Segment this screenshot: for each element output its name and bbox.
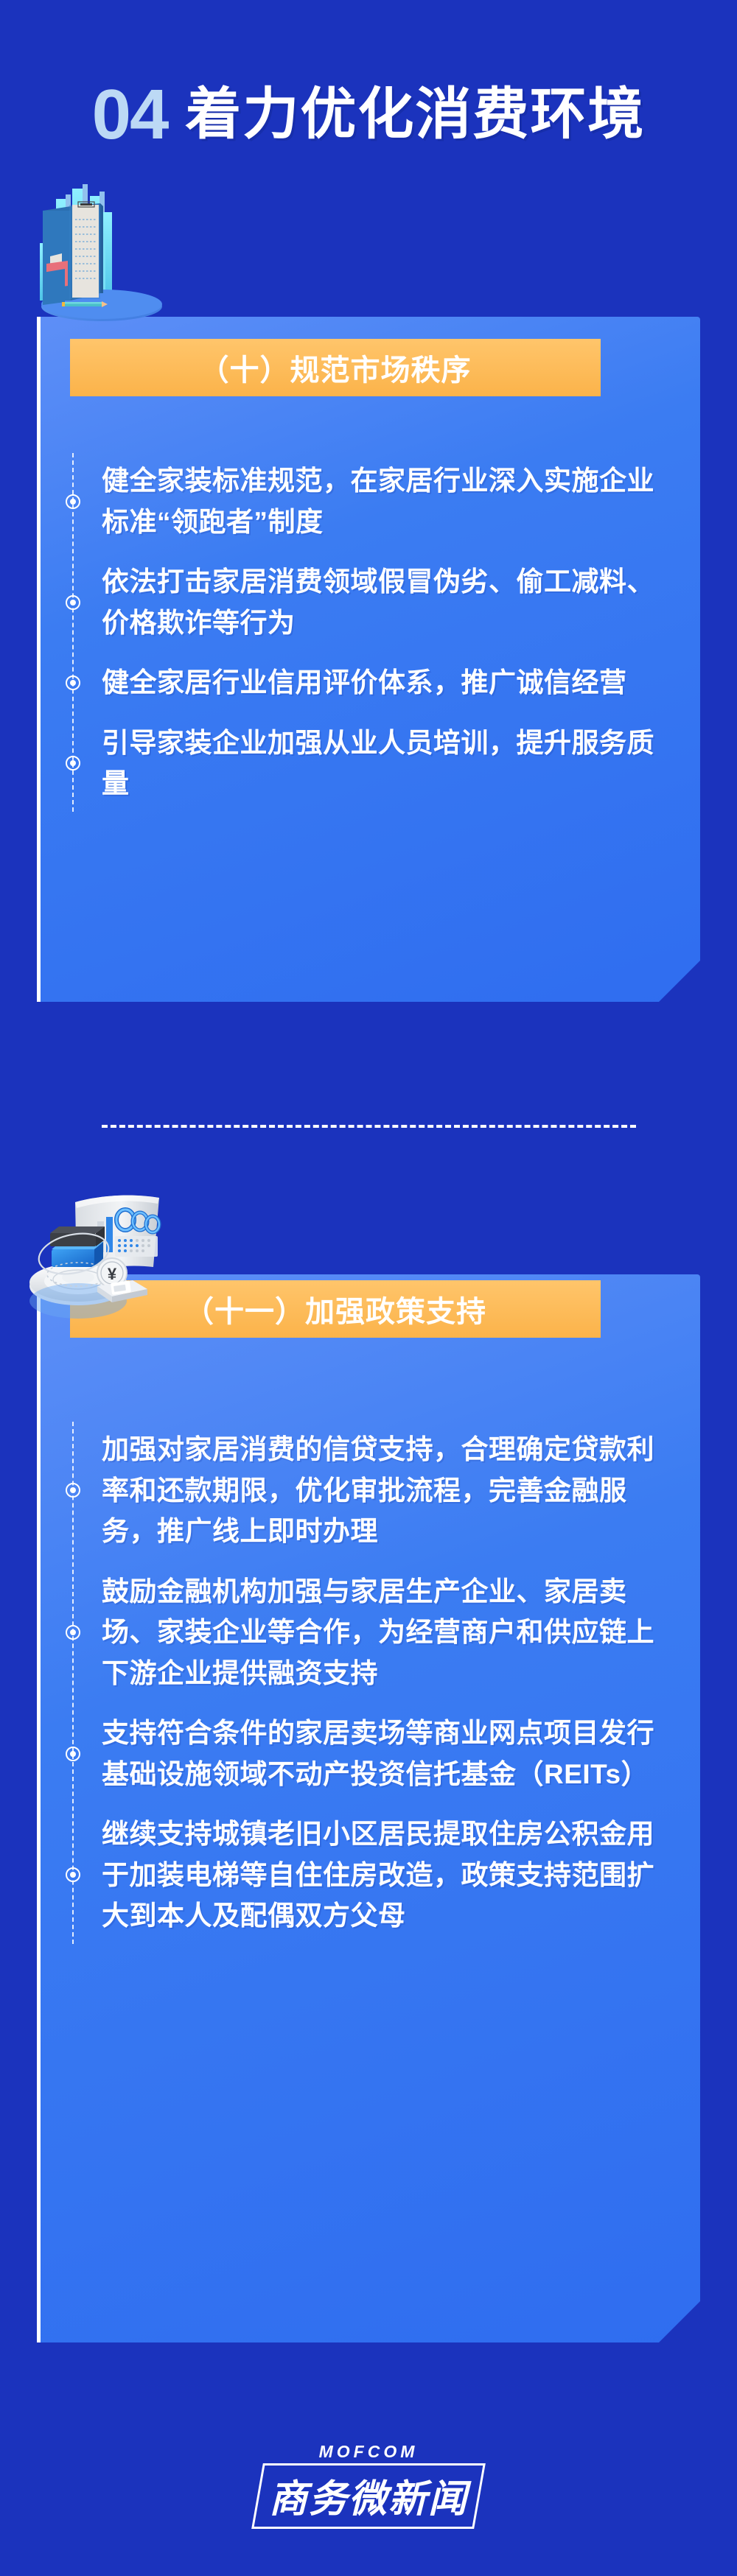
footer-logo: MOFCOM 商务微新闻 <box>0 2442 737 2529</box>
list-item-text: 支持符合条件的家居卖场等商业网点项目发行基础设施领域不动产投资信托基金（REIT… <box>102 1713 677 1794</box>
list-item: 引导家装企业加强从业人员培训，提升服务质量 <box>72 723 677 804</box>
bullet-marker-icon <box>66 1483 80 1498</box>
list-item: 加强对家居消费的信贷支持，合理确定贷款利率和还款期限，优化审批流程，完善金融服务… <box>72 1429 677 1552</box>
footer-logo-frame: 商务微新闻 <box>257 2463 480 2529</box>
bullet-list-1: 健全家装标准规范，在家居行业深入实施企业标准“领跑者”制度 依法打击家居消费领域… <box>72 460 677 804</box>
bullet-marker-icon <box>66 1747 80 1761</box>
list-item-text: 依法打击家居消费领域假冒伪劣、偷工减料、价格欺诈等行为 <box>102 561 677 643</box>
list-item: 鼓励金融机构加强与家居生产企业、家居卖场、家装企业等合作，为经营商户和供应链上下… <box>72 1571 677 1694</box>
clipboard-folder-chart-icon <box>27 175 196 330</box>
section-divider <box>102 1125 636 1128</box>
card-corner-notch <box>659 2301 700 2342</box>
list-item-text: 继续支持城镇老旧小区居民提取住房公积金用于加装电梯等自住住房改造，政策支持范围扩… <box>102 1814 677 1937</box>
list-item: 继续支持城镇老旧小区居民提取住房公积金用于加装电梯等自住住房改造，政策支持范围扩… <box>72 1814 677 1937</box>
data-dashboard-yen-coin-icon: ¥ <box>29 1157 203 1322</box>
card-corner-notch <box>659 961 700 1002</box>
list-item-text: 健全家居行业信用评价体系，推广诚信经营 <box>102 662 677 703</box>
svg-text:¥: ¥ <box>108 1265 117 1283</box>
list-item-text: 鼓励金融机构加强与家居生产企业、家居卖场、家装企业等合作，为经营商户和供应链上下… <box>102 1571 677 1694</box>
list-item-text: 健全家装标准规范，在家居行业深入实施企业标准“领跑者”制度 <box>102 460 677 542</box>
page-title: 着力优化消费环境 <box>185 87 645 143</box>
list-item-text: 加强对家居消费的信贷支持，合理确定贷款利率和还款期限，优化审批流程，完善金融服务… <box>102 1429 677 1552</box>
section-number: 04 <box>92 80 168 150</box>
infographic-poster: 04 着力优化消费环境 <box>0 0 737 2576</box>
bullet-marker-icon <box>66 595 80 610</box>
list-item: 支持符合条件的家居卖场等商业网点项目发行基础设施领域不动产投资信托基金（REIT… <box>72 1713 677 1794</box>
section-banner-1-text: （十）规范市场秩序 <box>200 346 472 389</box>
bullet-list-2: 加强对家居消费的信贷支持，合理确定贷款利率和还款期限，优化审批流程，完善金融服务… <box>72 1429 677 1937</box>
section-banner-1: （十）规范市场秩序 <box>70 339 601 396</box>
bullet-marker-icon <box>66 494 80 509</box>
footer-logo-english: MOFCOM <box>319 2442 419 2462</box>
list-item: 健全家装标准规范，在家居行业深入实施企业标准“领跑者”制度 <box>72 460 677 542</box>
list-item: 健全家居行业信用评价体系，推广诚信经营 <box>72 662 677 703</box>
bullet-marker-icon <box>66 675 80 690</box>
list-item: 依法打击家居消费领域假冒伪劣、偷工减料、价格欺诈等行为 <box>72 561 677 643</box>
list-item-text: 引导家装企业加强从业人员培训，提升服务质量 <box>102 723 677 804</box>
poster-header: 04 着力优化消费环境 <box>0 71 737 159</box>
footer-logo-chinese: 商务微新闻 <box>269 2468 468 2523</box>
bullet-marker-icon <box>66 1867 80 1882</box>
bullet-marker-icon <box>66 756 80 771</box>
bullet-marker-icon <box>66 1625 80 1640</box>
section-banner-2-text: （十一）加强政策支持 <box>184 1288 486 1330</box>
